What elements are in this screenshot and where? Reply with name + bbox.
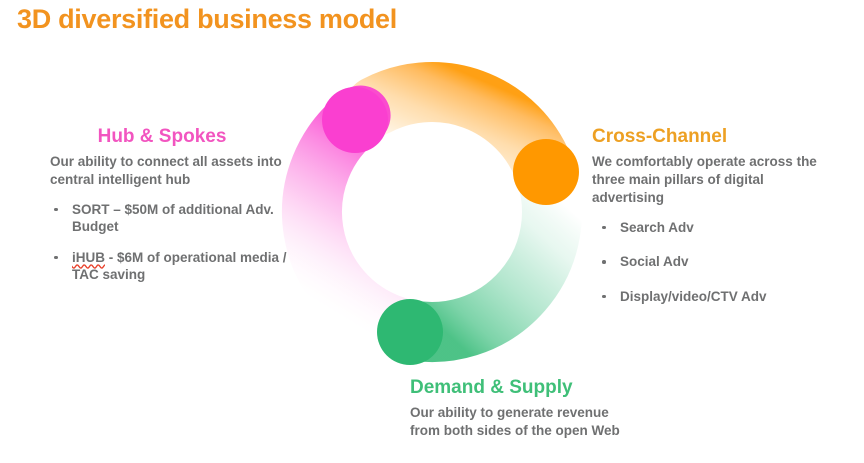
list-item: Social Adv (592, 253, 832, 271)
ring-dot-demand-supply (377, 299, 443, 365)
panel-hub-spokes-heading: Hub & Spokes (50, 126, 290, 148)
bullet-dot-icon (602, 226, 606, 230)
list-item: Display/video/CTV Adv (592, 288, 832, 306)
panel-hub-spokes-body: Our ability to connect all assets into c… (50, 153, 290, 189)
bullet-dot-icon (54, 208, 58, 212)
ring-dot-hub-spokes (322, 87, 388, 153)
panel-cross-channel: Cross-Channel We comfortably operate acr… (592, 126, 832, 322)
bullet-dot-icon (602, 295, 606, 299)
panel-demand-supply-body: Our ability to generate revenue from bot… (410, 404, 640, 440)
bullet-text: Social Adv (620, 254, 689, 269)
bullet-term: SORT (72, 202, 110, 217)
list-item: Search Adv (592, 219, 832, 237)
three-segment-ring-diagram (272, 52, 592, 372)
panel-demand-supply-heading: Demand & Supply (410, 377, 640, 399)
bullet-text: - $6M of operational media / TAC saving (72, 250, 287, 283)
list-item: SORT – $50M of additional Adv. Budget (50, 201, 290, 236)
slide-canvas: 3D diversified business model (0, 0, 864, 463)
panel-demand-supply: Demand & Supply Our ability to generate … (410, 377, 640, 440)
panel-cross-channel-heading: Cross-Channel (592, 126, 832, 148)
panel-cross-channel-bullets: Search Adv Social Adv Display/video/CTV … (592, 219, 832, 306)
bullet-text: Display/video/CTV Adv (620, 289, 767, 304)
page-title: 3D diversified business model (17, 4, 397, 35)
bullet-text: Search Adv (620, 220, 694, 235)
panel-cross-channel-body: We comfortably operate across the three … (592, 153, 832, 207)
ring-dot-cross-channel (513, 139, 579, 205)
panel-hub-spokes-bullets: SORT – $50M of additional Adv. Budget iH… (50, 201, 290, 284)
panel-hub-spokes: Hub & Spokes Our ability to connect all … (50, 126, 290, 284)
bullet-dot-icon (602, 260, 606, 264)
bullet-dot-icon (54, 256, 58, 260)
bullet-term-misspelled: iHUB (72, 250, 105, 265)
list-item: iHUB - $6M of operational media / TAC sa… (50, 249, 290, 284)
